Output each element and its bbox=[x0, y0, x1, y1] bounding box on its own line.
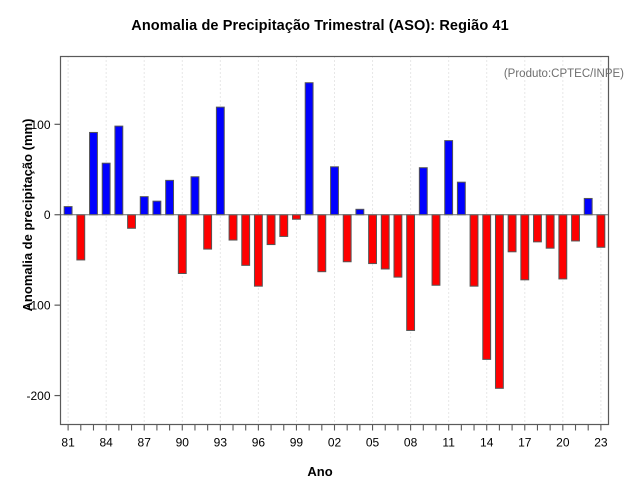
bar-1992 bbox=[204, 215, 212, 249]
x-tick-label: 02 bbox=[328, 436, 342, 450]
x-tick-label: 84 bbox=[99, 436, 113, 450]
x-tick-label: 20 bbox=[556, 436, 570, 450]
bar-1987 bbox=[140, 197, 148, 215]
bar-1996 bbox=[254, 215, 262, 286]
x-axis: 818487909396990205081114172023 bbox=[61, 425, 607, 450]
bar-1997 bbox=[267, 215, 275, 245]
chart-container: Anomalia de Precipitação Trimestral (ASO… bbox=[0, 0, 640, 500]
bar-2015 bbox=[495, 215, 503, 389]
bar-2011 bbox=[445, 141, 453, 215]
bar-1984 bbox=[102, 163, 110, 215]
bar-2023 bbox=[597, 215, 605, 248]
bar-2010 bbox=[432, 215, 440, 286]
bar-2008 bbox=[407, 215, 415, 331]
bar-1986 bbox=[128, 215, 136, 229]
bar-2022 bbox=[584, 198, 592, 214]
bar-2014 bbox=[483, 215, 491, 360]
x-axis-label: Ano bbox=[0, 464, 640, 479]
bar-2012 bbox=[457, 182, 465, 215]
bar-2021 bbox=[572, 215, 580, 241]
x-tick-label: 05 bbox=[366, 436, 380, 450]
bar-2016 bbox=[508, 215, 516, 252]
bar-2003 bbox=[343, 215, 351, 262]
x-tick-label: 96 bbox=[252, 436, 266, 450]
bar-1990 bbox=[178, 215, 186, 274]
bar-1989 bbox=[166, 180, 174, 214]
bar-1999 bbox=[293, 215, 301, 220]
bar-1993 bbox=[216, 107, 224, 215]
bar-2007 bbox=[394, 215, 402, 277]
bar-1994 bbox=[229, 215, 237, 240]
x-tick-label: 11 bbox=[442, 436, 455, 450]
bar-2004 bbox=[356, 209, 364, 214]
x-tick-label: 23 bbox=[594, 436, 608, 450]
y-tick-label: -200 bbox=[26, 389, 50, 403]
x-tick-label: 99 bbox=[290, 436, 304, 450]
bar-1998 bbox=[280, 215, 288, 237]
bar-2009 bbox=[419, 168, 427, 215]
x-tick-label: 90 bbox=[176, 436, 190, 450]
x-tick-label: 14 bbox=[480, 436, 494, 450]
bar-2019 bbox=[546, 215, 554, 248]
bar-1982 bbox=[77, 215, 85, 260]
bar-2020 bbox=[559, 215, 567, 279]
bar-1981 bbox=[64, 207, 72, 215]
bar-2018 bbox=[534, 215, 542, 242]
source-annotation: (Produto:CPTEC/INPE) bbox=[504, 68, 624, 80]
bar-1985 bbox=[115, 126, 123, 215]
y-axis-label: Anomalia de precipitação (mm) bbox=[20, 50, 35, 380]
bar-1995 bbox=[242, 215, 250, 266]
x-tick-label: 17 bbox=[518, 436, 532, 450]
x-tick-label: 93 bbox=[214, 436, 228, 450]
x-tick-label: 81 bbox=[61, 436, 75, 450]
y-tick-label: 0 bbox=[44, 208, 51, 222]
x-tick-label: 87 bbox=[138, 436, 152, 450]
bar-2002 bbox=[331, 167, 339, 215]
bar-2006 bbox=[381, 215, 389, 269]
bar-2001 bbox=[318, 215, 326, 272]
bar-2017 bbox=[521, 215, 529, 280]
bar-2005 bbox=[369, 215, 377, 264]
bar-1983 bbox=[90, 132, 98, 214]
bar-1991 bbox=[191, 177, 199, 215]
bar-2013 bbox=[470, 215, 478, 286]
bar-2000 bbox=[305, 83, 313, 215]
x-tick-label: 08 bbox=[404, 436, 418, 450]
bar-1988 bbox=[153, 201, 161, 215]
chart-title: Anomalia de Precipitação Trimestral (ASO… bbox=[0, 18, 640, 34]
